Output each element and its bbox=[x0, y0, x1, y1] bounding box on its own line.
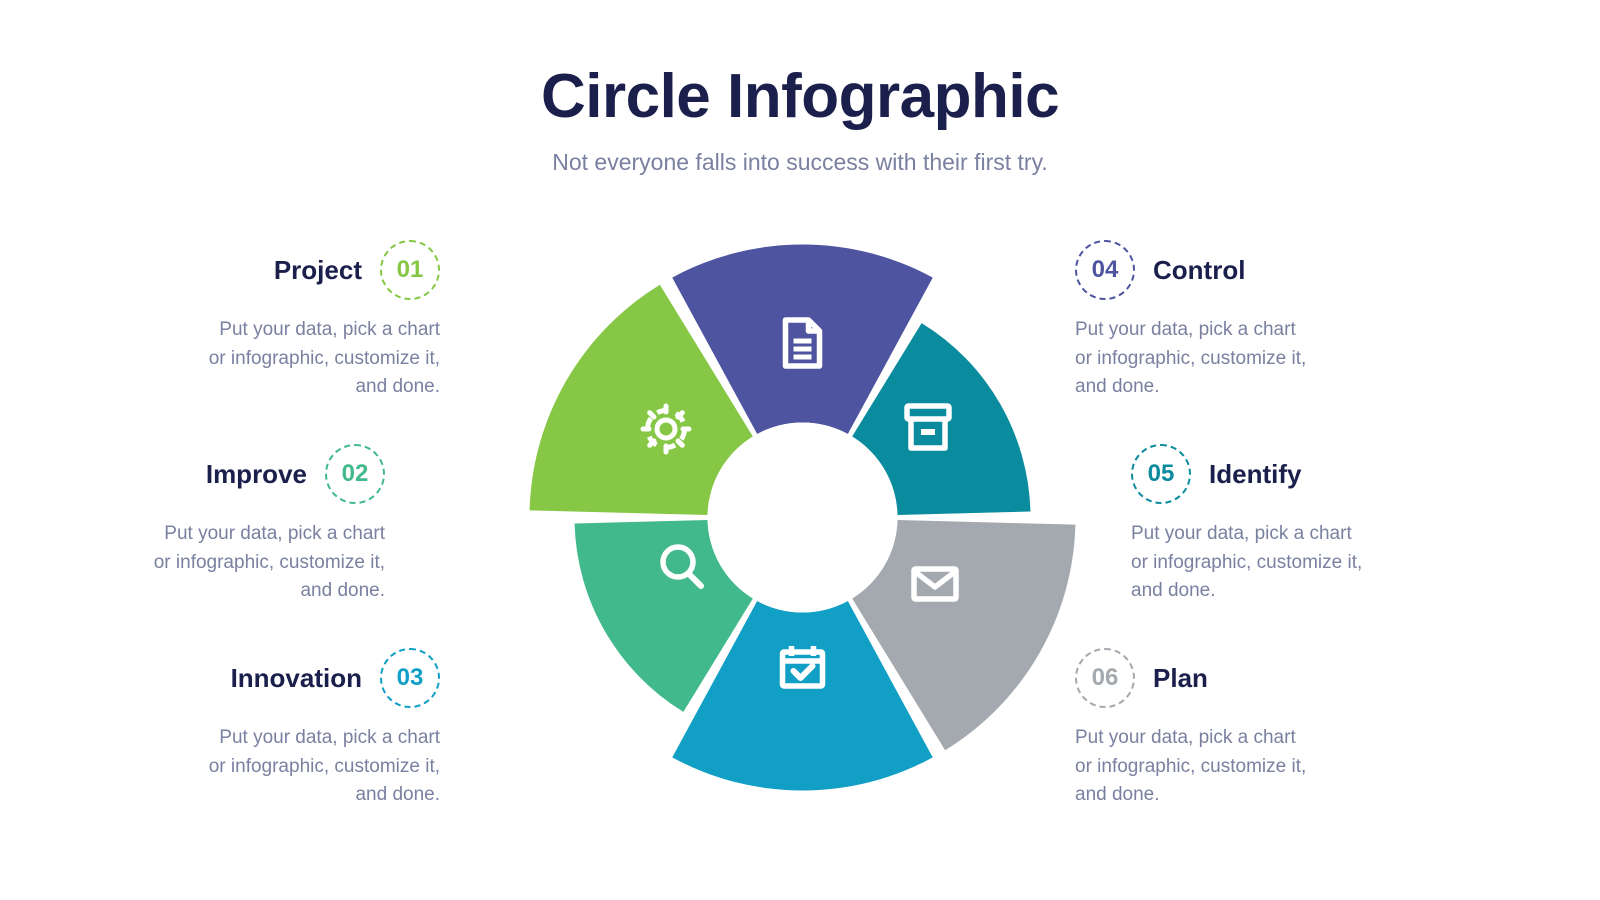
item-head: 05 Identify bbox=[1131, 444, 1551, 504]
item-head: Innovation 03 bbox=[20, 648, 440, 708]
item-body: Put your data, pick a chart or infograph… bbox=[20, 316, 440, 402]
item-title: Improve bbox=[206, 459, 307, 490]
item-identify[interactable]: 05 Identify Put your data, pick a chart … bbox=[1131, 444, 1551, 606]
item-title: Plan bbox=[1153, 663, 1208, 694]
item-title: Innovation bbox=[231, 663, 362, 694]
item-number-badge: 01 bbox=[380, 240, 440, 300]
item-number-badge: 04 bbox=[1075, 240, 1135, 300]
item-control[interactable]: 04 Control Put your data, pick a chart o… bbox=[1075, 240, 1495, 402]
page-title: Circle Infographic bbox=[0, 64, 1600, 131]
item-head: 04 Control bbox=[1075, 240, 1495, 300]
item-number-badge: 06 bbox=[1075, 648, 1135, 708]
item-title: Control bbox=[1153, 255, 1245, 286]
item-body: Put your data, pick a chart or infograph… bbox=[20, 724, 440, 810]
item-number-badge: 02 bbox=[325, 444, 385, 504]
item-body: Put your data, pick a chart or infograph… bbox=[0, 520, 385, 606]
item-body: Put your data, pick a chart or infograph… bbox=[1075, 724, 1495, 810]
infographic-canvas: Circle Infographic Not everyone falls in… bbox=[0, 0, 1600, 900]
item-project[interactable]: Project 01 Put your data, pick a chart o… bbox=[20, 240, 440, 402]
header: Circle Infographic Not everyone falls in… bbox=[0, 64, 1600, 176]
item-plan[interactable]: 06 Plan Put your data, pick a chart or i… bbox=[1075, 648, 1495, 810]
item-head: Project 01 bbox=[20, 240, 440, 300]
item-title: Project bbox=[274, 255, 362, 286]
page-subtitle: Not everyone falls into success with the… bbox=[0, 149, 1600, 176]
item-number-badge: 03 bbox=[380, 648, 440, 708]
item-number-badge: 05 bbox=[1131, 444, 1191, 504]
circle-wheel bbox=[520, 235, 1085, 800]
wheel-svg bbox=[520, 235, 1085, 800]
item-innovation[interactable]: Innovation 03 Put your data, pick a char… bbox=[20, 648, 440, 810]
item-title: Identify bbox=[1209, 459, 1301, 490]
item-head: Improve 02 bbox=[0, 444, 385, 504]
item-head: 06 Plan bbox=[1075, 648, 1495, 708]
item-improve[interactable]: Improve 02 Put your data, pick a chart o… bbox=[0, 444, 385, 606]
item-body: Put your data, pick a chart or infograph… bbox=[1075, 316, 1495, 402]
item-body: Put your data, pick a chart or infograph… bbox=[1131, 520, 1551, 606]
wheel-center-hole bbox=[708, 423, 898, 613]
